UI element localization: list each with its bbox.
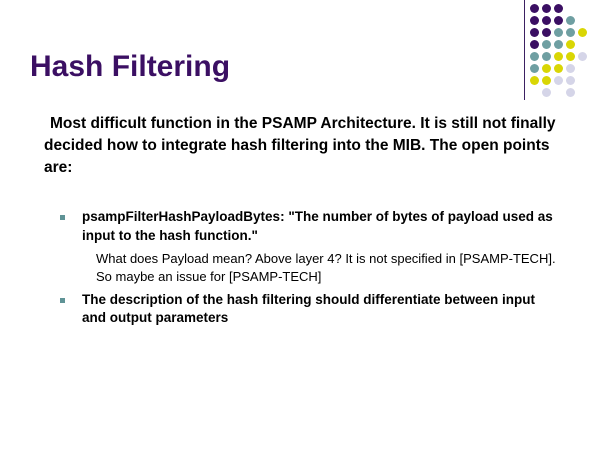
bullet-list: psampFilterHashPayloadBytes: "The number… — [58, 208, 558, 328]
slide-canvas: Hash Filtering Most difficult function i… — [0, 0, 600, 450]
decoration-dot — [542, 16, 551, 25]
decoration-dot — [542, 28, 551, 37]
sub-note-block: What does Payload mean? Above layer 4? I… — [58, 250, 558, 285]
vertical-rule — [524, 0, 525, 100]
decoration-dot — [542, 52, 551, 61]
decoration-dot — [530, 52, 539, 61]
decoration-dot — [554, 4, 563, 13]
slide-body: Most difficult function in the PSAMP Arc… — [44, 113, 560, 179]
decoration-dot — [566, 40, 575, 49]
decoration-dot — [542, 4, 551, 13]
sub-note-line: What does Payload mean? Above layer 4? I… — [96, 250, 558, 267]
decoration-dot — [554, 76, 563, 85]
decoration-dot — [542, 40, 551, 49]
decoration-dot — [542, 88, 551, 97]
decoration-dot — [542, 76, 551, 85]
bullet-label: The description of the hash filtering sh… — [82, 292, 535, 326]
decoration-dot — [554, 40, 563, 49]
decoration-dot — [578, 52, 587, 61]
decoration-dot — [554, 64, 563, 73]
decoration-dot — [554, 28, 563, 37]
decoration-dot — [554, 16, 563, 25]
bullet-text: psampFilterHashPayloadBytes: "The number… — [58, 208, 558, 245]
decoration-dot — [566, 76, 575, 85]
list-item: psampFilterHashPayloadBytes: "The number… — [58, 208, 558, 285]
list-item: The description of the hash filtering sh… — [58, 291, 558, 328]
dot-grid-icon — [530, 4, 600, 102]
decoration-dot — [566, 64, 575, 73]
intro-paragraph: Most difficult function in the PSAMP Arc… — [44, 113, 560, 179]
decoration-dot — [542, 64, 551, 73]
decoration-dot — [530, 4, 539, 13]
bullet-marker-icon — [60, 298, 65, 303]
decoration-dot — [530, 28, 539, 37]
decoration-dot — [566, 16, 575, 25]
decoration-dot — [566, 88, 575, 97]
page-title: Hash Filtering — [30, 50, 230, 84]
bullet-text: The description of the hash filtering sh… — [58, 291, 558, 328]
sub-note-line: So maybe an issue for [PSAMP-TECH] — [96, 268, 558, 285]
decoration-dot — [530, 40, 539, 49]
decoration-dot — [530, 16, 539, 25]
slide-decoration — [524, 0, 600, 102]
decoration-dot — [566, 52, 575, 61]
decoration-dot — [566, 28, 575, 37]
decoration-dot — [554, 52, 563, 61]
decoration-dot — [530, 64, 539, 73]
decoration-dot — [530, 76, 539, 85]
bullet-label: psampFilterHashPayloadBytes: "The number… — [82, 209, 553, 243]
bullet-marker-icon — [60, 215, 65, 220]
decoration-dot — [578, 28, 587, 37]
